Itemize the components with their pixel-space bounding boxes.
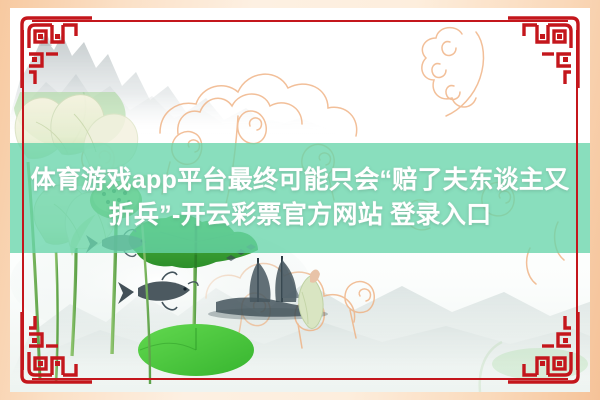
frame-line-bottom [32,378,568,380]
lily-pad-bright [138,324,254,376]
lotus-bud-right [299,270,323,369]
frame-line-top [32,20,568,22]
meander-corner-bottom-right [504,308,582,386]
banner-title: 体育游戏app平台最终可能只会“赔了夫东谈主又 折兵”-开云彩票官方网站 登录入… [10,163,590,234]
banner-canvas: 体育游戏app平台最终可能只会“赔了夫东谈主又 折兵”-开云彩票官方网站 登录入… [10,8,590,392]
meander-corner-bottom-left [18,308,96,386]
decorative-banner: 体育游戏app平台最终可能只会“赔了夫东谈主又 折兵”-开云彩票官方网站 登录入… [0,0,600,400]
meander-corner-top-left [18,14,96,92]
meander-corner-top-right [504,14,582,92]
title-band: 体育游戏app平台最终可能只会“赔了夫东谈主又 折兵”-开云彩票官方网站 登录入… [10,143,590,253]
